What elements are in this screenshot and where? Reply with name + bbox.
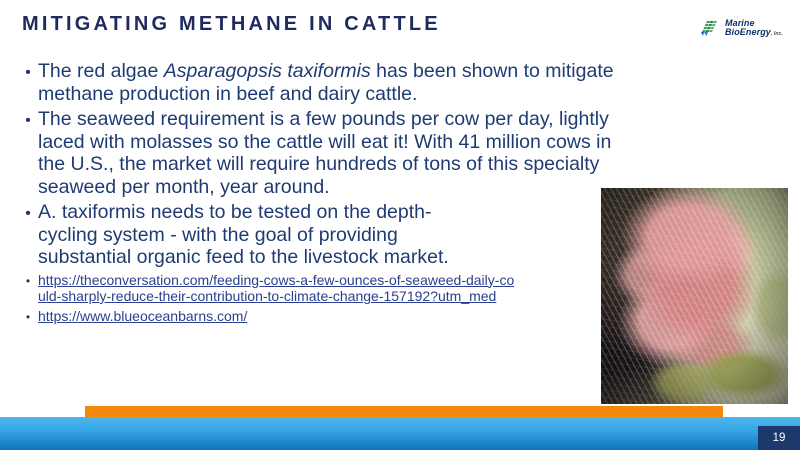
bullet-item: • The seaweed requirement is a few pound… [18,108,618,198]
logo-wordmark: Marine BioEnergy, Inc. [725,19,783,37]
bullet-item-link: • https://theconversation.com/feeding-co… [18,272,518,305]
bullet-dot-icon: • [18,308,38,323]
bullet-dot-icon: • [18,60,38,81]
link-text[interactable]: https://theconversation.com/feeding-cows… [38,272,518,305]
company-logo: Marine BioEnergy, Inc. [700,14,792,42]
bullet-dot-icon: • [18,108,38,129]
blueoceanbarns-link[interactable]: https://www.blueoceanbarns.com/ [38,308,247,324]
bullet-text: The seaweed requirement is a few pounds … [38,108,618,198]
bullet-dot-icon: • [18,272,38,287]
bullet-item: • The red algae Asparagopsis taxiformis … [18,60,618,105]
theconversation-link[interactable]: https://theconversation.com/feeding-cows… [38,272,514,305]
orange-divider-bar [85,406,723,417]
logo-line-2: BioEnergy, Inc. [725,28,783,37]
species-name: Asparagopsis taxiformis [164,60,371,82]
bullet-item: • A. taxiformis needs to be tested on th… [18,201,458,269]
leaf-grid-icon [700,18,722,38]
bullet-text: A. taxiformis needs to be tested on the … [38,201,458,269]
bullet-item-link: • https://www.blueoceanbarns.com/ [18,308,518,325]
link-text[interactable]: https://www.blueoceanbarns.com/ [38,308,518,325]
page-title: MITIGATING METHANE IN CATTLE [22,13,441,36]
page-number-badge: 19 [758,426,800,450]
bullet-text: The red algae Asparagopsis taxiformis ha… [38,60,618,105]
logo-inc-suffix: , Inc. [771,31,783,37]
bullet-dot-icon: • [18,201,38,222]
algae-photo: Photo credit: Mara [601,188,788,404]
slide-body: • The red algae Asparagopsis taxiformis … [18,60,618,327]
photo-vignette-layer [601,188,788,404]
slide: MITIGATING METHANE IN CATTLE Marine BioE… [0,0,800,450]
footer-blue-band [0,417,800,450]
